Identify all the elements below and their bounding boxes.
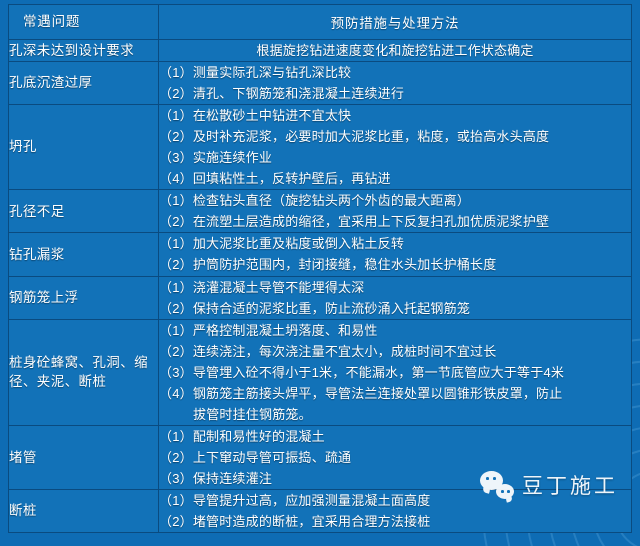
measures-list: （1）检查钻头直径（旋挖钻头两个外齿的最大距离） （2）在流塑土层造成的缩径，宜… — [159, 190, 631, 232]
measure-item: （2）及时补充泥浆，必要时加大泥浆比重，粘度，或抬高水头高度 — [159, 126, 631, 147]
measure-item: （2）在流塑土层造成的缩径，宜采用上下反复扫孔加优质泥浆护壁 — [159, 211, 631, 232]
measure-item: （2）清孔、下钢筋笼和浇混凝土连续进行 — [159, 83, 631, 104]
measures-list: （1）浇灌混凝土导管不能埋得太深 （2）保持合适的泥浆比重，防止流砂涌入托起钢筋… — [159, 277, 631, 319]
table-row: 桩身砼蜂窝、孔洞、缩径、夹泥、断桩 （1）严格控制混凝土坍落度、和易性 （2）连… — [9, 319, 632, 425]
problem-label: 坍孔 — [9, 105, 159, 190]
measure-item: （1）严格控制混凝土坍落度、和易性 — [159, 320, 631, 341]
measures-cell: （1）测量实际孔深与钻孔深比较 （2）清孔、下钢筋笼和浇混凝土连续进行 — [159, 62, 632, 105]
measures-cell: （1）浇灌混凝土导管不能埋得太深 （2）保持合适的泥浆比重，防止流砂涌入托起钢筋… — [159, 276, 632, 319]
table-row: 钻孔漏浆 （1）加大泥浆比重及粘度或倒入粘土反转 （2）护筒防护范围内，封闭接缝… — [9, 233, 632, 276]
measures-cell: （1）加大泥浆比重及粘度或倒入粘土反转 （2）护筒防护范围内，封闭接缝，稳住水头… — [159, 233, 632, 276]
measure-item-continued: 拔管时挂住钢筋笼。 — [159, 404, 631, 425]
table-header-row: 常遇问题 预防措施与处理方法 — [9, 5, 632, 40]
measure-item: （1）浇灌混凝土导管不能埋得太深 — [159, 277, 631, 298]
problem-label: 桩身砼蜂窝、孔洞、缩径、夹泥、断桩 — [9, 319, 159, 425]
measure-item: （3）导管埋入砼不得小于1米，不能漏水，第一节底管应大于等于4米 — [159, 362, 631, 383]
table-row: 钢筋笼上浮 （1）浇灌混凝土导管不能埋得太深 （2）保持合适的泥浆比重，防止流砂… — [9, 276, 632, 319]
measures-list: （1）加大泥浆比重及粘度或倒入粘土反转 （2）护筒防护范围内，封闭接缝，稳住水头… — [159, 233, 631, 275]
measures-list: （1）在松散砂土中钻进不宜太快 （2）及时补充泥浆，必要时加大泥浆比重，粘度，或… — [159, 105, 631, 189]
measures-list: （1）测量实际孔深与钻孔深比较 （2）清孔、下钢筋笼和浇混凝土连续进行 — [159, 62, 631, 104]
problem-label: 断桩 — [9, 489, 159, 532]
measure-item: （2）护筒防护范围内，封闭接缝，稳住水头加长护桶长度 — [159, 254, 631, 275]
wechat-icon — [480, 471, 514, 499]
measure-item-text: （4）钢筋笼主筋接头焊平，导管法兰连接处罩以圆锥形铁皮罩，防止 — [159, 386, 562, 401]
problems-measures-table: 常遇问题 预防措施与处理方法 孔深未达到设计要求 根据旋挖钻进速度变化和旋挖钻进… — [8, 4, 632, 533]
measures-cell: （1）在松散砂土中钻进不宜太快 （2）及时补充泥浆，必要时加大泥浆比重，粘度，或… — [159, 105, 632, 190]
measure-item: （4）回填粘性土，反转护壁后，再钻进 — [159, 168, 631, 189]
measures-cell: （1）严格控制混凝土坍落度、和易性 （2）连续浇注，每次浇注量不宜太小，成桩时间… — [159, 319, 632, 425]
measures-cell: 根据旋挖钻进速度变化和旋挖钻进工作状态确定 — [159, 40, 632, 62]
measures-list: 根据旋挖钻进速度变化和旋挖钻进工作状态确定 — [159, 40, 631, 61]
problem-label: 堵管 — [9, 425, 159, 489]
column-header-problem: 常遇问题 — [9, 5, 159, 40]
measure-item: （2）堵管时造成的断桩，宜采用合理方法接桩 — [159, 511, 631, 532]
measure-item: （1）检查钻头直径（旋挖钻头两个外齿的最大距离） — [159, 190, 631, 211]
watermark-label: 豆丁施工 — [522, 470, 618, 500]
measure-item: （1）加大泥浆比重及粘度或倒入粘土反转 — [159, 233, 631, 254]
table-row: 孔深未达到设计要求 根据旋挖钻进速度变化和旋挖钻进工作状态确定 — [9, 40, 632, 62]
column-header-measures: 预防措施与处理方法 — [159, 5, 632, 40]
measure-item: （1）测量实际孔深与钻孔深比较 — [159, 62, 631, 83]
measure-item: （1）配制和易性好的混凝土 — [159, 426, 631, 447]
measure-item-continued-text: 拔管时挂住钢筋笼。 — [159, 404, 631, 425]
measure-item: （4）钢筋笼主筋接头焊平，导管法兰连接处罩以圆锥形铁皮罩，防止 — [159, 383, 631, 404]
measure-item: （2）连续浇注，每次浇注量不宜太小，成桩时间不宜过长 — [159, 341, 631, 362]
watermark-logo: 豆丁施工 — [480, 470, 618, 500]
measures-list: （1）严格控制混凝土坍落度、和易性 （2）连续浇注，每次浇注量不宜太小，成桩时间… — [159, 320, 631, 425]
problem-label: 钢筋笼上浮 — [9, 276, 159, 319]
measure-item: （1）在松散砂土中钻进不宜太快 — [159, 105, 631, 126]
problem-label: 孔深未达到设计要求 — [9, 40, 159, 62]
measures-cell: （1）检查钻头直径（旋挖钻头两个外齿的最大距离） （2）在流塑土层造成的缩径，宜… — [159, 190, 632, 233]
measure-item: （2）上下窜动导管可振捣、疏通 — [159, 447, 631, 468]
problem-label: 孔径不足 — [9, 190, 159, 233]
table-row: 孔底沉渣过厚 （1）测量实际孔深与钻孔深比较 （2）清孔、下钢筋笼和浇混凝土连续… — [9, 62, 632, 105]
table-row: 孔径不足 （1）检查钻头直径（旋挖钻头两个外齿的最大距离） （2）在流塑土层造成… — [9, 190, 632, 233]
measure-item: （2）保持合适的泥浆比重，防止流砂涌入托起钢筋笼 — [159, 298, 631, 319]
problem-measure-sheet: 常遇问题 预防措施与处理方法 孔深未达到设计要求 根据旋挖钻进速度变化和旋挖钻进… — [0, 0, 640, 516]
problem-label: 孔底沉渣过厚 — [9, 62, 159, 105]
problem-label: 钻孔漏浆 — [9, 233, 159, 276]
measure-item: 根据旋挖钻进速度变化和旋挖钻进工作状态确定 — [159, 40, 631, 61]
table-body: 常遇问题 预防措施与处理方法 孔深未达到设计要求 根据旋挖钻进速度变化和旋挖钻进… — [9, 5, 632, 533]
table-row: 坍孔 （1）在松散砂土中钻进不宜太快 （2）及时补充泥浆，必要时加大泥浆比重，粘… — [9, 105, 632, 190]
measure-item: （3）实施连续作业 — [159, 147, 631, 168]
